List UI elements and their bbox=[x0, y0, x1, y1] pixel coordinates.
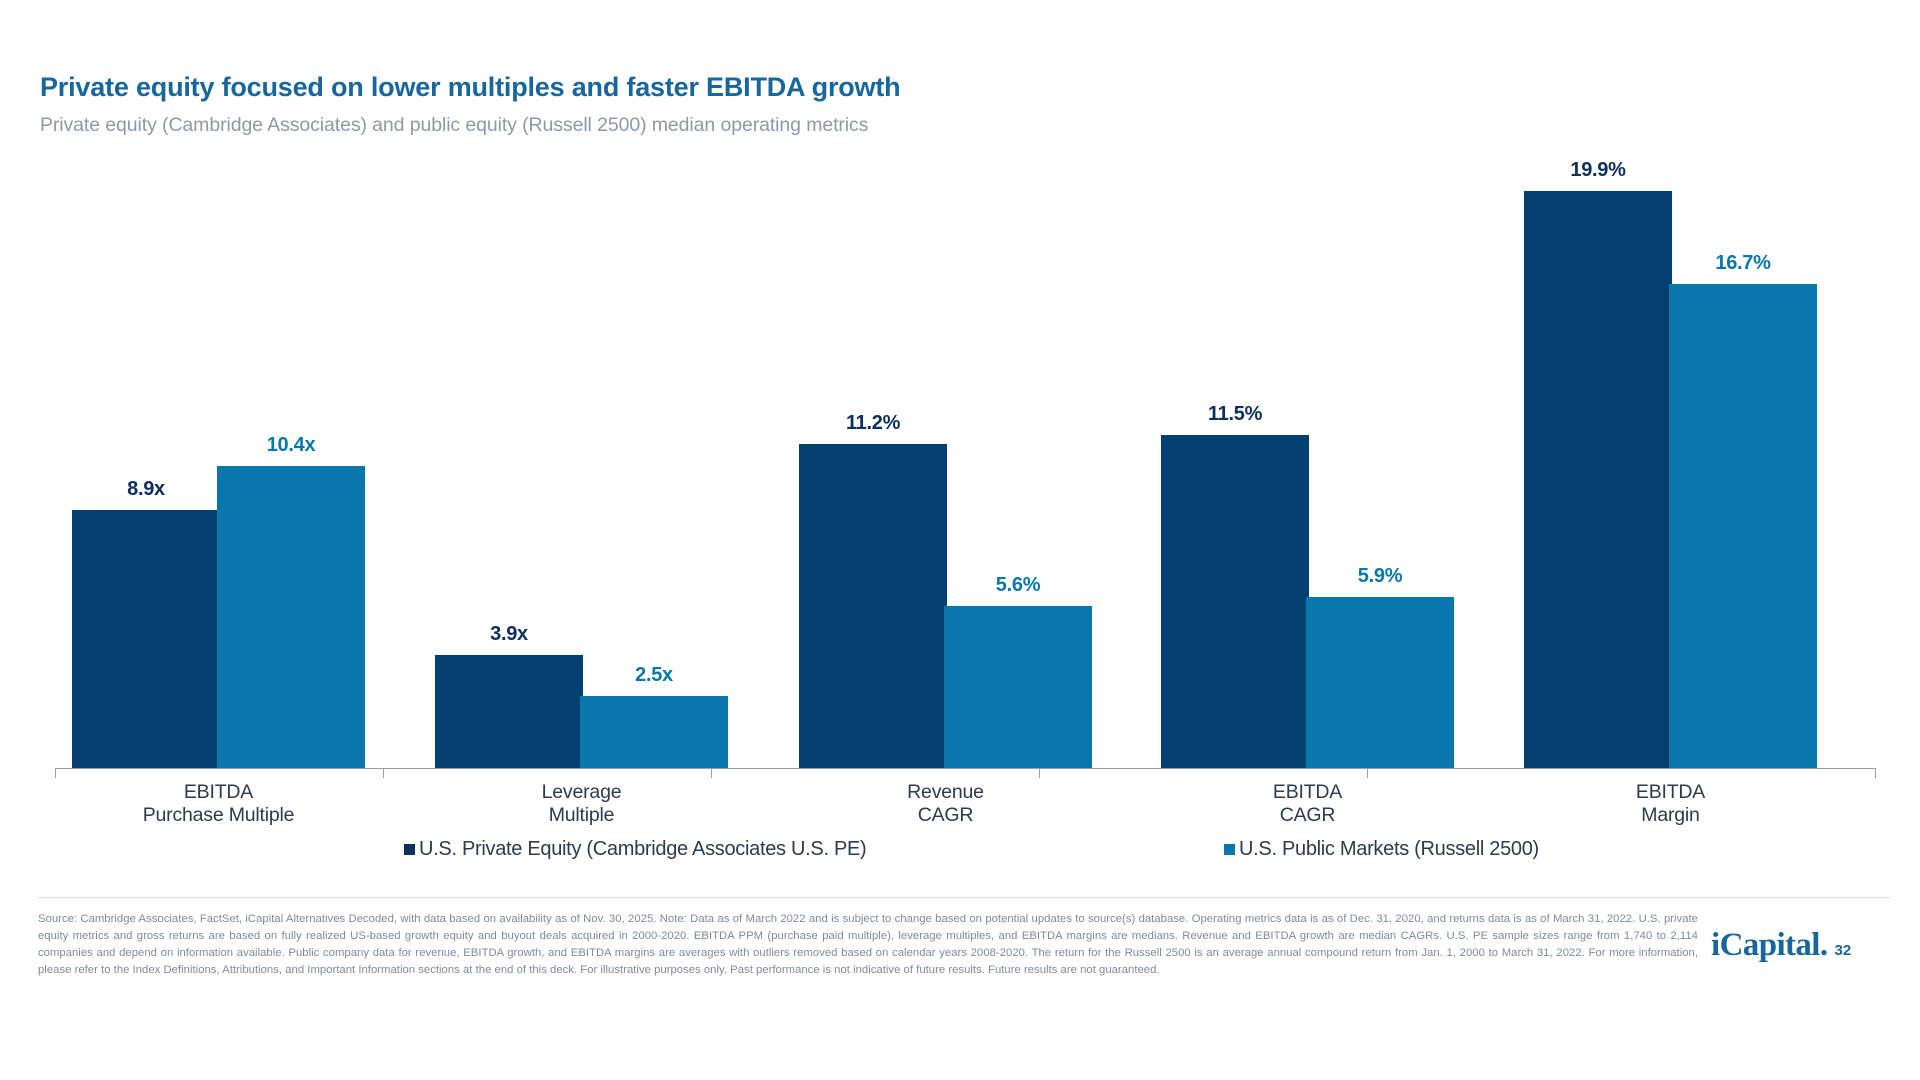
page-subtitle: Private equity (Cambridge Associates) an… bbox=[40, 114, 868, 137]
category-label-line: Leverage bbox=[542, 781, 622, 804]
bar: 11.5% bbox=[1161, 435, 1309, 768]
bar-value-label: 11.2% bbox=[846, 412, 900, 435]
bar-value-label: 16.7% bbox=[1715, 252, 1770, 275]
x-axis-tick bbox=[383, 768, 384, 778]
bar: 10.4x bbox=[217, 466, 365, 768]
bar-value-label: 5.9% bbox=[1358, 565, 1402, 588]
bar: 5.9% bbox=[1306, 597, 1454, 768]
x-axis-tick bbox=[1039, 768, 1040, 778]
x-axis-tick bbox=[711, 768, 712, 778]
bar-value-label: 2.5x bbox=[635, 664, 673, 687]
legend-item[interactable]: U.S. Public Markets (Russell 2500) bbox=[1224, 838, 1539, 861]
page-title: Private equity focused on lower multiple… bbox=[40, 72, 900, 103]
bar: 19.9% bbox=[1524, 191, 1672, 768]
bar-value-label: 3.9x bbox=[490, 623, 528, 646]
page-number: 32 bbox=[1835, 942, 1852, 959]
x-axis-category-label: EBITDACAGR bbox=[1273, 781, 1342, 828]
category-label-line: Purchase Multiple bbox=[143, 804, 295, 827]
category-label-line: EBITDA bbox=[1636, 781, 1705, 804]
legend-swatch-icon bbox=[1224, 844, 1235, 855]
bar: 3.9x bbox=[435, 655, 583, 768]
x-axis-tick bbox=[1875, 768, 1876, 778]
bar: 5.6% bbox=[944, 606, 1092, 768]
bar: 8.9x bbox=[72, 510, 220, 768]
legend-label: U.S. Private Equity (Cambridge Associate… bbox=[419, 838, 866, 861]
category-label-line: CAGR bbox=[907, 804, 984, 827]
bar-value-label: 11.5% bbox=[1208, 403, 1262, 426]
slide: Private equity focused on lower multiple… bbox=[0, 0, 1920, 1080]
x-axis-tick bbox=[55, 768, 56, 778]
legend-label: U.S. Public Markets (Russell 2500) bbox=[1239, 838, 1539, 861]
footer-divider bbox=[38, 897, 1890, 898]
bar: 16.7% bbox=[1669, 284, 1817, 768]
category-label-line: Margin bbox=[1636, 804, 1705, 827]
bar: 11.2% bbox=[799, 444, 947, 768]
bar-value-label: 10.4x bbox=[267, 434, 316, 457]
category-label-line: EBITDA bbox=[143, 781, 295, 804]
bar-value-label: 19.9% bbox=[1570, 159, 1625, 182]
chart-plot-area: 8.9x3.9x11.2%11.5%19.9%10.4x2.5x5.6%5.9%… bbox=[55, 140, 1875, 768]
x-axis-tick bbox=[1367, 768, 1368, 778]
category-label-line: CAGR bbox=[1273, 804, 1342, 827]
category-label-line: EBITDA bbox=[1273, 781, 1342, 804]
x-axis-category-label: RevenueCAGR bbox=[907, 781, 984, 828]
category-label-line: Multiple bbox=[542, 804, 622, 827]
bar: 2.5x bbox=[580, 696, 728, 768]
bar-value-label: 8.9x bbox=[127, 478, 165, 501]
legend-item[interactable]: U.S. Private Equity (Cambridge Associate… bbox=[404, 838, 866, 861]
logo-wordmark: iCapital. bbox=[1711, 927, 1828, 964]
icapital-logo: iCapital. 32 bbox=[1711, 927, 1851, 964]
legend-swatch-icon bbox=[404, 844, 415, 855]
x-axis-line bbox=[55, 768, 1875, 769]
source-footnote: Source: Cambridge Associates, FactSet, i… bbox=[38, 911, 1698, 980]
x-axis-category-label: EBITDAPurchase Multiple bbox=[143, 781, 295, 828]
x-axis-category-label: LeverageMultiple bbox=[542, 781, 622, 828]
bar-value-label: 5.6% bbox=[996, 574, 1040, 597]
category-label-line: Revenue bbox=[907, 781, 984, 804]
x-axis-category-label: EBITDAMargin bbox=[1636, 781, 1705, 828]
chart-legend: U.S. Private Equity (Cambridge Associate… bbox=[0, 838, 1920, 868]
